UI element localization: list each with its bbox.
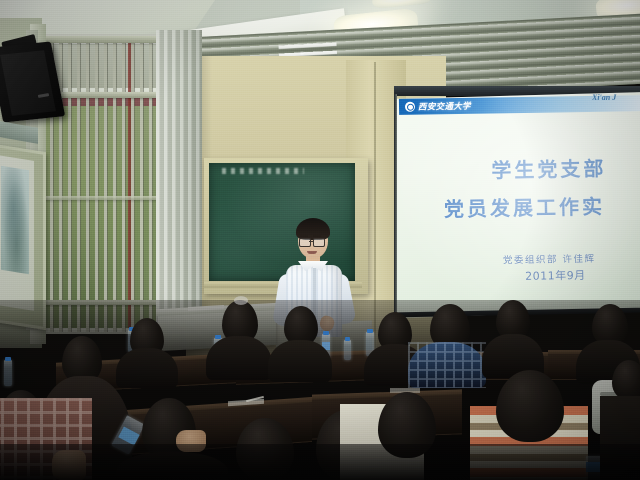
plaid-pattern [408, 342, 486, 388]
water-bottle [344, 340, 351, 360]
window-rail-middle [36, 196, 160, 200]
chalk-smudge [222, 168, 304, 174]
presenter-mouth [307, 251, 317, 254]
slide-author-line: 党委组织部 许佳辉 [503, 251, 596, 267]
presenter-eyebrow-left [300, 235, 308, 237]
framed-picture-artwork [1, 166, 29, 274]
presenter-eyebrow-right [313, 235, 321, 237]
audience-shoulders [268, 340, 332, 382]
eyeglasses-lens-left [299, 238, 311, 247]
window-rail-top [36, 36, 162, 43]
photograph-lecture-hall: 西安交通大学 Xi'an J 学生党支部 党员发展工作实 党委组织部 许佳辉 2… [0, 0, 640, 480]
eyeglasses-lens-right [313, 238, 325, 247]
foreground-shadow [0, 444, 640, 480]
water-bottle [4, 360, 12, 386]
slide-title-line-1: 学生党支部 [491, 152, 606, 183]
audience-head [612, 360, 640, 400]
slide-body: 学生党支部 党员发展工作实 党委组织部 许佳辉 2011年9月 [394, 90, 640, 320]
slide-title-line-2: 党员发展工作实 [444, 191, 605, 223]
slide-date-line: 2011年9月 [525, 267, 586, 284]
hair-tie [234, 296, 248, 305]
eyeglasses-bridge [309, 241, 313, 242]
bottle-cap [367, 329, 373, 333]
bottle-cap [5, 357, 11, 361]
bottle-cap [345, 337, 350, 341]
audience-shoulders [116, 348, 178, 388]
screen-left-edge [394, 94, 397, 316]
louver-glint [300, 52, 304, 55]
audience-shoulders [206, 336, 272, 380]
bottle-cap [323, 331, 329, 335]
